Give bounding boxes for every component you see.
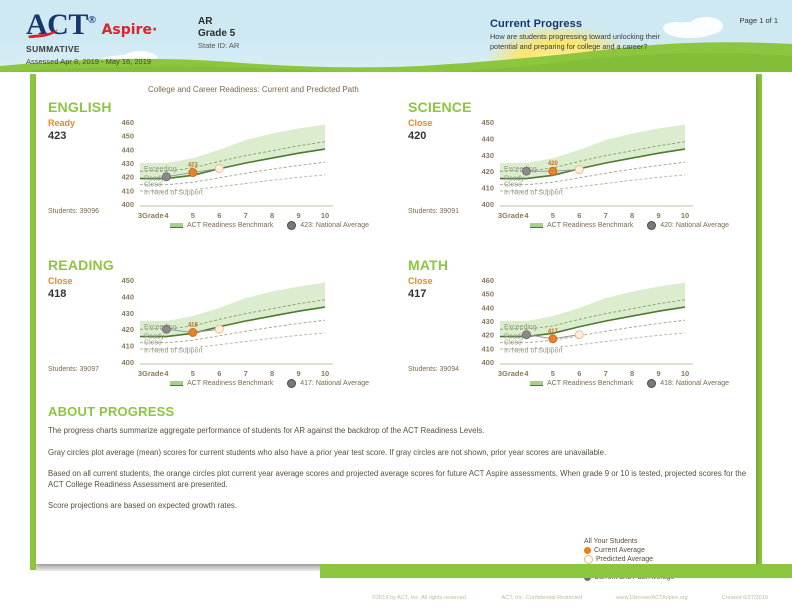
x-tick-label: 6 [217, 369, 221, 378]
current-average-data-label: 418 [188, 322, 199, 328]
chart-legend: ACT Readiness Benchmark418: National Ave… [530, 379, 729, 388]
content-panel: College and Career Readiness: Current an… [36, 74, 756, 564]
svg-text:400: 400 [121, 358, 134, 367]
page-number: Page 1 of 1 [740, 16, 778, 25]
x-tick-label: 8 [270, 369, 274, 378]
about-paragraph-2: Gray circles plot average (mean) scores … [48, 448, 748, 459]
legend-label-benchmark: ACT Readiness Benchmark [187, 222, 273, 229]
benchmark-swatch-icon [170, 381, 183, 386]
footer-copyright: ©2019 by ACT, Inc. All rights reserved. [372, 595, 468, 601]
gray-average-marker [522, 167, 530, 175]
svg-text:400: 400 [481, 358, 494, 367]
subject-block-science: SCIENCEClose420Students: 390914504404304… [408, 100, 753, 250]
svg-text:450: 450 [481, 290, 494, 299]
x-axis-label: Grade [142, 211, 164, 220]
x-tick-label: 8 [630, 369, 634, 378]
act-wordmark: ACT® [26, 10, 96, 40]
gray-average-marker [522, 331, 530, 339]
orange-filled-dot-icon [584, 547, 591, 554]
svg-text:430: 430 [121, 309, 134, 318]
svg-text:460: 460 [121, 118, 134, 127]
page-header: ACT® Aspire· SUMMATIVE Assessed Apr 8, 2… [0, 0, 792, 72]
x-tick-label: 10 [681, 211, 689, 220]
svg-text:450: 450 [121, 276, 134, 285]
svg-text:430: 430 [481, 317, 494, 326]
x-tick-label: 4 [164, 369, 169, 378]
key-label-predicted-average: Predicted Average [596, 556, 653, 563]
grade-label: Grade 5 [198, 28, 239, 40]
svg-text:440: 440 [481, 303, 494, 312]
page-footer: ©2019 by ACT, Inc. All rights reserved. … [0, 586, 792, 612]
svg-text:420: 420 [481, 331, 494, 340]
subject-block-reading: READINGClose418Students: 390974504404304… [48, 258, 393, 408]
readiness-zone-label: Close [144, 181, 162, 188]
svg-text:440: 440 [481, 134, 494, 143]
svg-text:420: 420 [121, 173, 134, 182]
orange-current-average-marker [189, 328, 197, 336]
x-tick-label: 4 [164, 211, 169, 220]
assessed-window: Assessed Apr 8, 2019 - May 16, 2019 [26, 57, 151, 66]
progress-chart-svg: 450440430420410400ExceedingReadyCloseIn … [48, 258, 368, 390]
svg-text:450: 450 [481, 118, 494, 127]
benchmark-swatch-icon [530, 223, 543, 228]
key-item-current-average: Current Average [584, 547, 680, 554]
x-tick-label: 7 [244, 369, 248, 378]
x-tick-label: 7 [604, 369, 608, 378]
orange-predicted-average-marker [215, 325, 223, 333]
orange-predicted-average-marker [575, 331, 583, 339]
about-progress-section: ABOUT PROGRESS The progress charts summa… [48, 404, 748, 523]
legend-label-national-average: 417: National Average [300, 380, 369, 387]
x-tick-label: 4 [524, 369, 529, 378]
x-tick-label: 3 [498, 369, 502, 378]
x-axis-label: Grade [502, 211, 524, 220]
x-tick-label: 5 [191, 211, 195, 220]
key-label-current-average: Current Average [594, 547, 645, 554]
svg-text:410: 410 [121, 186, 134, 195]
report-type-label: SUMMATIVE [26, 44, 80, 54]
national-average-dot-icon [287, 221, 296, 230]
report-page: ACT® Aspire· SUMMATIVE Assessed Apr 8, 2… [0, 0, 792, 612]
svg-text:430: 430 [481, 151, 494, 160]
school-name: AR [198, 16, 239, 28]
current-average-data-label: 420 [548, 161, 559, 167]
readiness-zone-label: In Need of Support [504, 348, 563, 355]
svg-text:430: 430 [121, 159, 134, 168]
current-progress-subtitle: How are students progressing toward unlo… [490, 32, 660, 51]
x-tick-label: 4 [524, 211, 529, 220]
chart-legend: ACT Readiness Benchmark420: National Ave… [530, 221, 729, 230]
x-tick-label: 5 [191, 369, 195, 378]
orange-current-average-marker [549, 335, 557, 343]
legend-label-national-average: 423: National Average [300, 222, 369, 229]
svg-text:410: 410 [481, 344, 494, 353]
readiness-zone-label: In Need of Support [504, 190, 563, 197]
svg-text:400: 400 [121, 200, 134, 209]
footer-website: www.DiscoverACTAspire.org [616, 595, 687, 601]
progress-chart-svg: 460450440430420410400ExceedingReadyClose… [48, 100, 368, 232]
x-tick-label: 9 [296, 211, 300, 220]
x-tick-label: 10 [321, 369, 329, 378]
x-axis-label: Grade [142, 369, 164, 378]
state-id: State ID: AR [198, 40, 239, 51]
about-paragraph-1: The progress charts summarize aggregate … [48, 426, 748, 437]
current-average-data-label: 423 [188, 163, 199, 169]
footer-green-bar [320, 564, 792, 578]
readiness-zone-label: Close [144, 339, 162, 346]
svg-text:460: 460 [481, 276, 494, 285]
orange-predicted-average-marker [575, 166, 583, 174]
legend-label-benchmark: ACT Readiness Benchmark [547, 222, 633, 229]
benchmark-swatch-icon [530, 381, 543, 386]
current-average-data-label: 417 [548, 329, 559, 335]
svg-text:410: 410 [481, 184, 494, 193]
readiness-zone-label: In Need of Support [144, 348, 203, 355]
subject-block-english: ENGLISHReady423Students: 390964604504404… [48, 100, 393, 250]
orange-predicted-average-marker [215, 164, 223, 172]
about-paragraph-4: Score projections are based on expected … [48, 501, 748, 512]
legend-label-national-average: 420: National Average [660, 222, 729, 229]
x-tick-label: 5 [551, 211, 555, 220]
about-paragraph-3: Based on all current students, the orang… [48, 469, 748, 490]
x-tick-label: 10 [321, 211, 329, 220]
svg-text:440: 440 [121, 145, 134, 154]
gray-average-marker [162, 173, 170, 181]
subject-block-math: MATHClose417Students: 390944604504404304… [408, 258, 753, 408]
readiness-zone-label: Close [504, 339, 522, 346]
aspire-wordmark: Aspire· [102, 22, 158, 38]
national-average-dot-icon [287, 379, 296, 388]
act-aspire-logo: ACT® Aspire· [26, 10, 157, 40]
current-progress-title: Current Progress [490, 18, 660, 30]
chart-legend: ACT Readiness Benchmark423: National Ave… [170, 221, 369, 230]
x-axis-label: Grade [502, 369, 524, 378]
x-tick-label: 7 [604, 211, 608, 220]
section-title-ccr: College and Career Readiness: Current an… [148, 85, 359, 94]
readiness-zone-label: Exceeding [144, 166, 177, 173]
x-tick-label: 6 [577, 369, 581, 378]
orange-current-average-marker [549, 167, 557, 175]
progress-chart-svg: 450440430420410400ExceedingReadyCloseIn … [408, 100, 728, 232]
orange-current-average-marker [189, 169, 197, 177]
svg-text:400: 400 [481, 200, 494, 209]
key-item-predicted-average: Predicted Average [584, 555, 680, 564]
svg-text:420: 420 [121, 325, 134, 334]
footer-created: Created 6/27/2019 [722, 595, 768, 601]
key-col1-title: All Your Students [584, 538, 680, 545]
x-tick-label: 3 [498, 211, 502, 220]
x-tick-label: 10 [681, 369, 689, 378]
readiness-zone-label: In Need of Support [144, 190, 203, 197]
svg-text:440: 440 [121, 292, 134, 301]
benchmark-swatch-icon [170, 223, 183, 228]
current-progress-block: Current Progress How are students progre… [490, 18, 660, 51]
svg-text:420: 420 [481, 167, 494, 176]
legend-label-benchmark: ACT Readiness Benchmark [187, 380, 273, 387]
x-tick-label: 9 [656, 211, 660, 220]
legend-label-benchmark: ACT Readiness Benchmark [547, 380, 633, 387]
x-tick-label: 7 [244, 211, 248, 220]
x-tick-label: 8 [630, 211, 634, 220]
national-average-dot-icon [647, 379, 656, 388]
x-tick-label: 6 [217, 211, 221, 220]
x-tick-label: 8 [270, 211, 274, 220]
readiness-zone-label: Exceeding [504, 324, 537, 331]
x-tick-label: 3 [138, 369, 142, 378]
x-tick-label: 5 [551, 369, 555, 378]
x-tick-label: 3 [138, 211, 142, 220]
svg-text:450: 450 [121, 132, 134, 141]
progress-chart-svg: 460450440430420410400ExceedingReadyClose… [408, 258, 728, 390]
readiness-zone-label: Close [504, 181, 522, 188]
about-heading: ABOUT PROGRESS [48, 404, 748, 419]
x-tick-label: 9 [296, 369, 300, 378]
footer-confidential: ACT, Inc.-Confidential Restricted [501, 595, 582, 601]
key-column-all-students: All Your Students Current Average Predic… [584, 538, 680, 565]
svg-text:410: 410 [121, 342, 134, 351]
legend-label-national-average: 418: National Average [660, 380, 729, 387]
school-info: AR Grade 5 State ID: AR [198, 16, 239, 51]
readiness-zone-label: Exceeding [504, 166, 537, 173]
national-average-dot-icon [647, 221, 656, 230]
chart-legend: ACT Readiness Benchmark417: National Ave… [170, 379, 369, 388]
x-tick-label: 6 [577, 211, 581, 220]
x-tick-label: 9 [656, 369, 660, 378]
orange-hollow-dot-icon [584, 555, 593, 564]
gray-average-marker [162, 325, 170, 333]
content-frame: College and Career Readiness: Current an… [30, 74, 762, 570]
